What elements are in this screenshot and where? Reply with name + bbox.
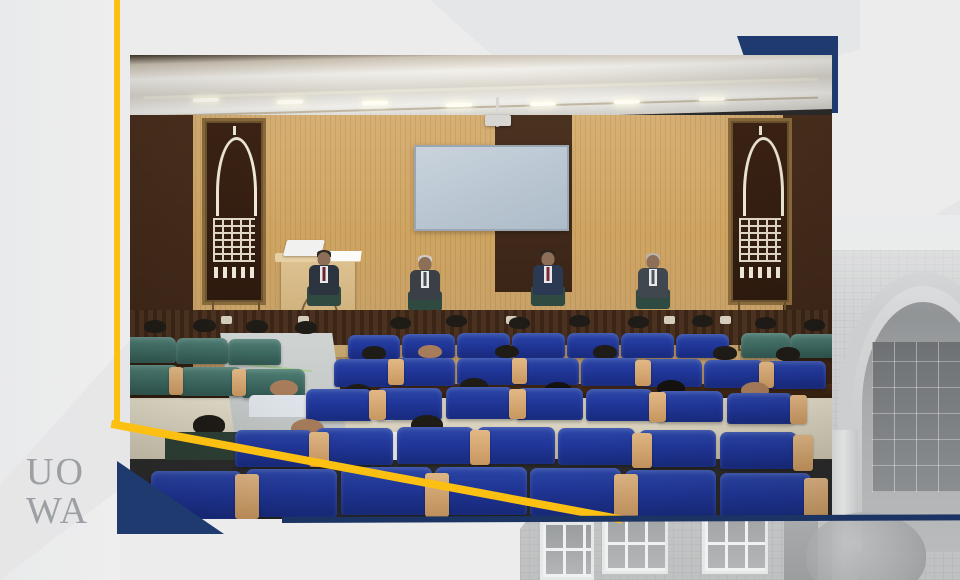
stage-speaker: [530, 252, 566, 308]
stage-speaker: [407, 257, 443, 313]
audience-seat: [130, 337, 176, 363]
panel-finial: [759, 126, 762, 135]
audience-head: [362, 346, 386, 360]
audience-head: [628, 316, 649, 328]
audience-seat: [657, 391, 724, 423]
slide-canvas: UO WA: [0, 0, 960, 580]
audience-head: [295, 321, 317, 334]
ceiling-light: [446, 102, 472, 107]
audience-head: [193, 319, 215, 332]
seat-armrest: [632, 433, 652, 468]
seat-armrest: [369, 390, 386, 420]
logo-line-2: WA: [26, 494, 116, 529]
seat-armrest: [790, 395, 807, 425]
panel-arch-motif: [743, 137, 784, 216]
speaker-tie: [322, 267, 325, 281]
speaker-head: [647, 255, 660, 269]
stage-speaker: [306, 252, 342, 308]
stage-spotlight: [720, 316, 731, 324]
seat-armrest: [804, 478, 828, 519]
panel-dot-row: [740, 267, 780, 278]
ceiling-light: [530, 101, 556, 106]
seat-armrest: [793, 435, 813, 470]
audience-head: [692, 315, 713, 327]
audience-seat: [519, 358, 579, 386]
seat-armrest: [470, 430, 490, 465]
seat-armrest: [235, 474, 259, 519]
audience-seat: [397, 427, 474, 464]
audience-seat: [246, 469, 337, 517]
speaker-head: [317, 252, 330, 266]
uowa-logo: UO WA: [26, 455, 116, 545]
stage-spotlight: [664, 316, 675, 324]
speaker-tie: [547, 267, 550, 281]
audience-seat: [625, 470, 716, 518]
audience-head: [446, 315, 467, 327]
stage-spotlight: [221, 316, 232, 324]
panel-arch-motif: [216, 137, 257, 216]
seat-armrest: [509, 389, 526, 419]
audience-seat: [720, 432, 797, 469]
audience-head: [144, 320, 166, 333]
audience-seat: [516, 388, 583, 420]
audience-head: [804, 319, 825, 331]
audience-seat: [766, 361, 826, 389]
seat-armrest: [232, 369, 246, 397]
audience-seat: [334, 359, 394, 387]
ornate-calligraphy-panel-right: [728, 118, 792, 305]
audience-head: [713, 346, 737, 360]
logo-line-1: UO: [26, 455, 116, 490]
ceiling-light: [193, 97, 219, 102]
seat-armrest: [649, 392, 666, 422]
audience-head: [755, 317, 776, 329]
ceiling-light: [277, 99, 303, 104]
audience-head: [509, 317, 530, 329]
seat-armrest: [512, 358, 527, 384]
audience-seat: [512, 333, 565, 357]
audience-head: [418, 345, 442, 359]
speaker-head: [542, 252, 555, 266]
seat-armrest: [614, 474, 638, 519]
audience-seat: [720, 473, 811, 519]
projection-screen: [414, 145, 569, 230]
panel-calligraphy: [739, 218, 781, 261]
audience-seat: [228, 339, 281, 365]
audience-head: [593, 345, 617, 359]
audience-seat: [581, 358, 641, 386]
audience-head: [776, 347, 800, 361]
panel-dot-row: [214, 267, 254, 278]
ceiling-projector: [485, 115, 511, 126]
audience-head: [495, 345, 519, 359]
seat-armrest: [169, 367, 183, 395]
ceiling-light: [699, 96, 725, 101]
yellow-vertical-accent: [114, 0, 120, 424]
audience-head: [569, 315, 590, 327]
audience-seat: [558, 428, 635, 465]
audience-head: [390, 317, 411, 329]
speaker-tie: [424, 272, 427, 286]
stage-speaker: [635, 255, 671, 311]
speaker-head: [419, 257, 432, 271]
audience-seat: [586, 389, 653, 421]
panel-calligraphy: [213, 218, 255, 261]
audience-seat: [727, 393, 794, 425]
audience-head: [270, 380, 298, 397]
audience-seat: [621, 333, 674, 357]
seat-armrest: [635, 360, 650, 386]
panel-finial: [233, 126, 236, 135]
seat-armrest: [388, 359, 403, 385]
ceiling-light: [614, 99, 640, 104]
ornate-calligraphy-panel-left: [202, 118, 266, 305]
audience-seat: [306, 389, 373, 421]
audience-seat: [395, 358, 455, 386]
audience-seat: [176, 338, 229, 364]
audience-seat: [446, 387, 513, 419]
audience-head: [246, 320, 268, 333]
speaker-tie: [652, 270, 655, 284]
